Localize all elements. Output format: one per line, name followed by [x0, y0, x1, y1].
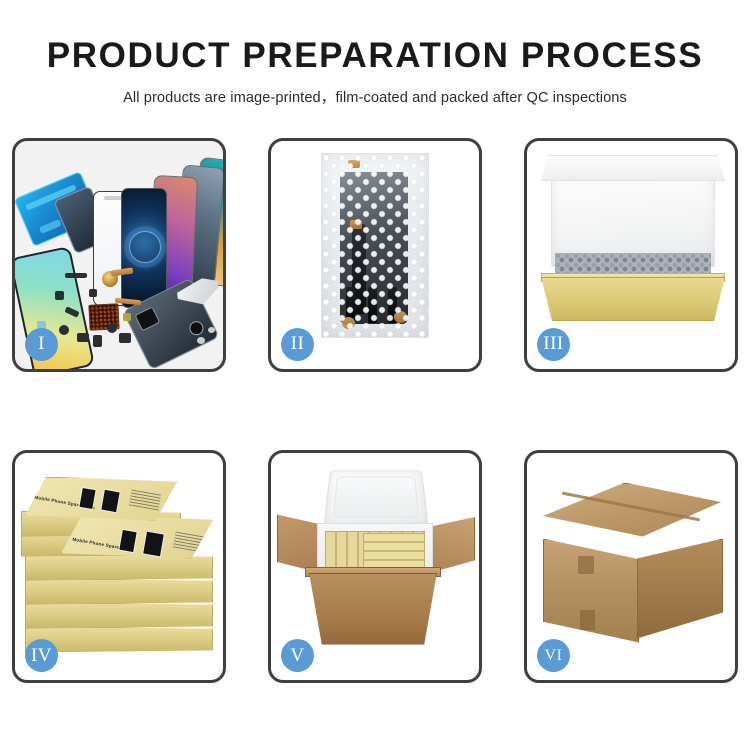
carton-tab-shape: [580, 610, 595, 630]
box-stack-shape: Mobile Phone Spare Parts Mobile Phone Sp…: [21, 477, 221, 657]
header: PRODUCT PREPARATION PROCESS All products…: [0, 0, 750, 107]
box-window-shape: [118, 528, 138, 552]
step-panel-2[interactable]: II: [268, 138, 482, 372]
step-badge-5: V: [281, 639, 314, 672]
step-badge-4: IV: [25, 639, 58, 672]
step-panel-5[interactable]: V: [268, 450, 482, 684]
phone-swirl-shape: [121, 188, 167, 308]
screw-shape: [208, 327, 215, 333]
small-part-shape: [123, 313, 131, 321]
carton-tab-shape: [578, 556, 594, 574]
box-window-shape: [142, 530, 165, 557]
small-part-shape: [65, 273, 87, 278]
step-panel-1[interactable]: I: [12, 138, 226, 372]
small-part-shape: [107, 323, 117, 333]
stacked-box-lid: Mobile Phone Spare Parts: [25, 477, 177, 521]
stacked-box-slab: [25, 579, 213, 605]
carton-top-face-shape: [543, 483, 721, 537]
carton-front-face-shape: [543, 539, 639, 643]
stacked-box-slab: [25, 603, 213, 629]
foam-cooler-lid-shape: [324, 470, 429, 525]
foam-fold-shape: [541, 155, 725, 181]
small-part-shape: [119, 333, 131, 343]
small-part-shape: [55, 291, 64, 300]
small-part-shape: [93, 335, 102, 347]
small-part-shape: [89, 289, 97, 297]
step-badge-6: VI: [537, 639, 570, 672]
stacked-box-slab: [25, 555, 213, 581]
screw-shape: [197, 337, 205, 344]
step-panel-3[interactable]: III: [524, 138, 738, 372]
carton-side-face-shape: [637, 539, 723, 639]
process-step-grid: I II III: [12, 138, 738, 683]
bubble-texture: [322, 154, 428, 337]
box-window-shape: [100, 488, 121, 513]
page-title: PRODUCT PREPARATION PROCESS: [0, 38, 750, 75]
step-panel-4[interactable]: Mobile Phone Spare Parts Mobile Phone Sp…: [12, 450, 226, 684]
box-print-lines: [129, 489, 161, 510]
step-badge-1: I: [25, 328, 58, 361]
step-badge-2: II: [281, 328, 314, 361]
inner-box-body-shape: [541, 277, 725, 321]
step-panel-6[interactable]: VI: [524, 450, 738, 684]
carton-body-shape: [309, 573, 437, 645]
page-subtitle: All products are image-printed，film-coat…: [0, 86, 750, 107]
small-part-shape: [59, 325, 69, 335]
box-print-lines: [173, 531, 205, 552]
stacked-box-lid: Mobile Phone Spare Parts: [61, 515, 213, 559]
small-part-shape: [77, 333, 89, 342]
step-badge-3: III: [537, 328, 570, 361]
bubble-wrap-bag-shape: [321, 153, 429, 338]
